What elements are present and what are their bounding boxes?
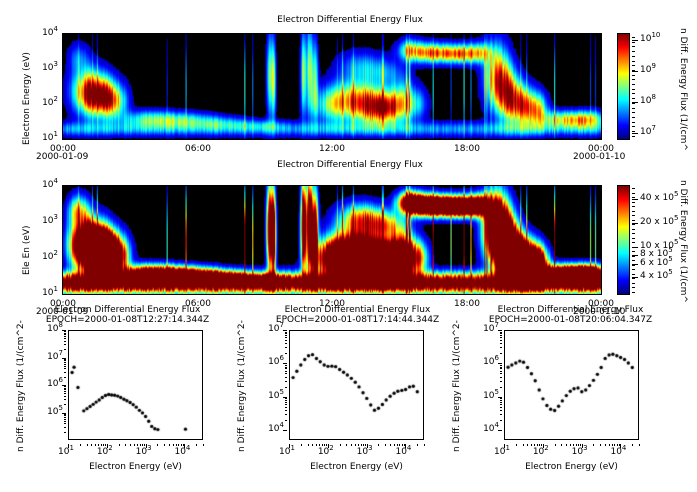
tick-mark [140,444,141,446]
tick-mark [632,247,635,248]
panel-4-xlabel: Electron Energy (eV) [289,462,424,472]
tick-mark [64,331,66,332]
tick-mark [632,75,635,76]
tick-mark [134,444,135,446]
tick-mark [285,353,287,354]
tick-mark [125,444,126,446]
tick-mark [181,444,182,446]
tick-mark [632,71,638,72]
tick-mark [285,373,287,374]
tick-mark [500,343,502,344]
y-tick-label: 105 [47,407,63,417]
tick-mark [632,112,635,113]
tick-mark [566,444,567,446]
y-tick-label: 106 [483,357,499,367]
tick-mark [632,98,635,99]
panel-4-yticklabels: 107106105104 [253,330,287,440]
tick-mark [103,444,104,446]
tick-mark [632,220,635,221]
x-tick-label: 104 [174,447,190,457]
tick-mark [632,197,635,198]
tick-mark [64,396,66,397]
panel-5-title: Electron Differential Energy Flux [463,305,678,315]
panel-3-yticklabels: 108107106105 [32,330,66,440]
y-tick-label: 107 [483,324,499,334]
panel-3-ylabel: n Diff. Energy Flux (1/(cm^2- [16,320,26,452]
tick-mark [183,444,184,446]
x-tick-label: 102 [97,447,113,457]
panel-2-colorbar-gradient [618,186,629,294]
tick-mark [632,292,635,293]
y-tick-label: 107 [268,324,284,334]
tick-mark [64,333,66,334]
panel-5-plot-area[interactable] [504,330,639,440]
tick-mark [632,133,638,134]
tick-mark [142,444,143,446]
tick-mark [101,444,102,446]
tick-mark [605,444,606,446]
tick-mark [632,206,635,207]
tick-mark [137,444,138,446]
y-tick-label: 107 [47,352,63,362]
tick-mark [285,381,287,382]
tick-mark [632,199,638,200]
tick-mark [619,444,620,446]
tick-mark [500,407,502,408]
tick-mark [576,444,577,446]
tick-mark [203,444,204,446]
tick-mark [312,444,313,446]
tick-mark [500,387,502,388]
tick-mark [397,444,398,446]
panel-5-ylabel: n Diff. Energy Flux (1/(cm^2- [452,320,462,452]
tick-mark [632,287,635,288]
tick-mark [95,444,96,446]
tick-mark [64,349,66,350]
tick-mark [639,444,640,446]
tick-mark [363,444,364,446]
tick-mark [632,42,635,43]
tick-mark [500,353,502,354]
tick-mark [285,333,287,334]
tick-mark [632,117,635,118]
colorbar-tick-label: 6 x 105 [640,258,673,268]
tick-mark [500,377,502,378]
tick-mark [64,415,66,416]
tick-mark [285,404,287,405]
y-tick-label: 102 [42,252,58,262]
tick-mark [632,56,635,57]
tick-mark [285,387,287,388]
tick-mark [417,444,418,446]
tick-mark [308,444,309,446]
tick-mark [534,444,535,446]
tick-mark [64,419,66,420]
tick-mark [173,444,174,446]
x-tick-label: 103 [572,447,588,457]
panel-3-plot-area[interactable] [68,330,203,440]
tick-mark [632,61,635,62]
tick-mark [351,444,352,446]
tick-mark [64,389,66,390]
tick-mark [578,444,579,446]
tick-mark [504,444,505,448]
y-tick-label: 106 [47,379,63,389]
tick-mark [394,444,395,446]
tick-mark [632,278,635,279]
panel-3-xticklabels: 101102103104 [68,444,203,458]
tick-mark [326,444,327,446]
tick-mark [405,444,406,448]
tick-mark [64,336,66,337]
colorbar-tick-label: 107 [640,127,656,137]
colorbar-tick-label: 109 [640,65,656,75]
panel-2-heatmap-canvas[interactable] [63,186,601,294]
panel-5-xticklabels: 101102103104 [504,444,639,458]
tick-mark [285,368,287,369]
tick-mark [285,335,287,336]
tick-mark [500,332,502,333]
panel-3-title: Electron Differential Energy Flux [20,305,235,315]
panel-3-xlabel: Electron Energy (eV) [68,462,203,472]
tick-mark [632,265,635,266]
tick-mark [144,444,145,446]
panel-2-colorbar-label: n Diff. Energy Flux (1/(cm^ [678,180,688,303]
colorbar-tick-label: 1010 [640,34,660,44]
panel-1-colorbar [617,33,630,140]
tick-mark [632,269,635,270]
tick-mark [632,136,635,137]
tick-mark [500,335,502,336]
tick-mark [64,386,66,387]
tick-mark [632,37,635,38]
panel-1-colorbar-ticklabels: 1010109108107 [632,33,672,140]
tick-mark [285,371,287,372]
y-tick-label: 104 [42,28,58,38]
tick-mark [80,444,81,446]
tick-mark [285,410,287,411]
tick-mark [593,444,594,446]
x-tick-label: 104 [395,447,411,457]
tick-mark [612,444,613,446]
x-tick-label: 103 [136,447,152,457]
tick-mark [632,256,635,257]
tick-mark [632,251,635,252]
panel-2-yticklabels: 104103102101 [30,185,60,295]
tick-mark [632,79,635,80]
panel-1-xticklabels: 00:0006:0012:0018:0000:00 [62,142,602,154]
tick-mark [632,274,635,275]
tick-mark [64,360,66,361]
tick-mark [285,347,287,348]
y-tick-label: 106 [268,357,284,367]
panel-3-scatter-canvas[interactable] [69,331,204,441]
tick-mark [91,444,92,446]
tick-mark [632,122,635,123]
tick-mark [404,444,405,446]
tick-mark [285,365,287,366]
tick-mark [328,444,329,448]
tick-mark [632,202,635,203]
panel-2-title: Electron Differential Energy Flux [185,160,515,170]
x-tick-label: 102 [533,447,549,457]
panel-1-heatmap-canvas[interactable] [63,34,601,139]
tick-mark [632,93,635,94]
tick-mark [64,372,66,373]
panel-2-colorbar [617,185,630,295]
x-tick-label: 103 [357,447,373,457]
y-tick-label: 103 [42,216,58,226]
tick-mark [378,444,379,446]
tick-mark [424,444,425,446]
tick-mark [500,340,502,341]
tick-mark [64,388,66,389]
tick-mark [500,371,502,372]
y-tick-label: 103 [42,63,58,73]
tick-mark [500,365,502,366]
tick-mark [301,444,302,446]
y-tick-label: 105 [483,391,499,401]
tick-mark [541,444,542,446]
tick-mark [169,444,170,446]
tick-mark [285,367,287,368]
tick-mark [322,444,323,446]
tick-mark [617,444,618,446]
tick-mark [64,359,66,360]
tick-mark [390,444,391,446]
tick-mark [64,414,66,415]
y-tick-label: 102 [42,98,58,108]
tick-mark [632,70,635,71]
x-tick-label: 101 [58,447,74,457]
tick-mark [632,215,635,216]
tick-mark [64,399,66,400]
tick-mark [516,444,517,446]
y-tick-label: 104 [268,424,284,434]
tick-mark [361,444,362,446]
tick-mark [632,84,635,85]
panel-1-date-left: 2000-01-09 [36,152,88,162]
tick-mark [289,444,290,448]
tick-mark [64,338,66,339]
tick-mark [555,444,556,446]
tick-mark [385,444,386,446]
tick-mark [632,193,635,194]
tick-mark [632,46,635,47]
tick-mark [500,347,502,348]
panel-4-ylabel: n Diff. Energy Flux (1/(cm^2- [237,320,247,452]
tick-mark [316,444,317,446]
panel-4-title: Electron Differential Energy Flux [250,305,465,315]
tick-mark [632,131,635,132]
tick-mark [285,402,287,403]
tick-mark [537,444,538,446]
panel-1-yticklabels: 104103102101 [30,33,60,140]
tick-mark [64,366,66,367]
tick-mark [632,229,635,230]
tick-mark [620,444,621,448]
tick-mark [196,444,197,446]
tick-mark [64,432,66,433]
y-tick-label: 105 [268,391,284,401]
tick-mark [285,332,287,333]
tick-mark [500,381,502,382]
panel-4-scatter-canvas[interactable] [290,331,425,441]
panel-5-xlabel: Electron Energy (eV) [504,462,639,472]
tick-mark [632,242,635,243]
tick-mark [500,333,502,334]
tick-mark [64,417,66,418]
colorbar-tick-label: 40 x 105 [640,193,678,203]
tick-mark [632,238,635,239]
panel-1-colorbar-label-wrap: n Diff. Energy Flux (1/(cm^ [688,28,697,38]
tick-mark [570,444,571,446]
x-tick-label: 101 [494,447,510,457]
tick-mark [500,400,502,401]
tick-mark [64,423,66,424]
tick-mark [365,444,366,446]
panel-1-title: Electron Differential Energy Flux [185,15,515,25]
tick-mark [285,340,287,341]
tick-mark [64,334,66,335]
tick-mark [632,108,635,109]
tick-mark [285,377,287,378]
tick-mark [500,368,502,369]
tick-mark [632,233,635,234]
tick-mark [64,362,66,363]
tick-mark [402,444,403,446]
tick-mark [64,393,66,394]
x-tick-label: 101 [279,447,295,457]
tick-mark [285,414,287,415]
tick-mark [130,444,131,446]
tick-mark [500,398,502,399]
tick-mark [609,444,610,446]
tick-mark [164,444,165,446]
tick-mark [500,414,502,415]
colorbar-tick-label: 20 x 105 [640,217,678,227]
tick-mark [157,444,158,446]
tick-mark [285,398,287,399]
tick-mark [285,420,287,421]
tick-mark [527,444,528,446]
tick-mark [358,444,359,446]
tick-mark [319,444,320,446]
tick-mark [632,188,635,189]
tick-mark [500,420,502,421]
colorbar-tick-label: 108 [640,96,656,106]
tick-mark [632,89,635,90]
tick-mark [543,444,544,448]
tick-mark [68,444,69,448]
tick-mark [178,444,179,446]
tick-mark [600,444,601,446]
x-tick-label: 18:00 [452,144,482,154]
tick-mark [632,51,635,52]
tick-mark [580,444,581,446]
tick-mark [632,65,635,66]
tick-mark [523,444,524,446]
tick-mark [500,404,502,405]
tick-mark [285,343,287,344]
tick-mark [500,373,502,374]
tick-mark [64,344,66,345]
tick-mark [105,444,106,446]
tick-mark [561,444,562,446]
tick-mark [632,283,635,284]
y-tick-label: 101 [42,133,58,143]
tick-mark [64,341,66,342]
tick-mark [399,444,400,446]
panel-5-yticklabels: 107106105104 [468,330,502,440]
panel-2-plot-area[interactable] [62,185,602,295]
tick-mark [184,444,185,448]
tick-mark [632,224,635,225]
panel-1-colorbar-label: n Diff. Energy Flux (1/(cm^ [678,28,688,151]
tick-mark [531,444,532,446]
panel-5-scatter-canvas[interactable] [505,331,640,441]
tick-mark [324,444,325,446]
tick-mark [632,126,635,127]
x-tick-label: 06:00 [183,144,213,154]
panel-4-plot-area[interactable] [289,330,424,440]
tick-mark [500,367,502,368]
tick-mark [119,444,120,446]
tick-mark [87,444,88,446]
tick-mark [539,444,540,446]
tick-mark [498,430,502,431]
tick-mark [64,404,66,405]
tick-mark [614,444,615,446]
tick-mark [64,377,66,378]
y-tick-label: 104 [42,180,58,190]
tick-mark [367,444,368,448]
tick-mark [64,364,66,365]
x-tick-label: 102 [318,447,334,457]
panel-1-date-right: 2000-01-10 [573,152,625,162]
tick-mark [64,368,66,369]
tick-mark [64,427,66,428]
x-tick-label: 104 [610,447,626,457]
tick-mark [176,444,177,446]
panel-1-colorbar-gradient [618,34,629,139]
tick-mark [64,421,66,422]
tick-mark [632,211,635,212]
panel-4-xticklabels: 101102103104 [289,444,424,458]
y-tick-label: 101 [42,288,58,298]
panel-1-plot-area[interactable] [62,33,602,140]
tick-mark [283,430,287,431]
tick-mark [500,337,502,338]
tick-mark [285,337,287,338]
colorbar-tick-label: 4 x 105 [640,271,673,281]
tick-mark [500,410,502,411]
y-tick-label: 104 [483,424,499,434]
tick-mark [285,407,287,408]
tick-mark [98,444,99,446]
tick-mark [632,444,633,446]
tick-mark [573,444,574,446]
tick-mark [632,103,635,104]
tick-mark [285,400,287,401]
tick-mark [632,260,635,261]
tick-mark [346,444,347,446]
tick-mark [355,444,356,446]
tick-mark [582,444,583,448]
tick-mark [107,444,108,448]
y-tick-label: 108 [47,324,63,334]
tick-mark [500,402,502,403]
